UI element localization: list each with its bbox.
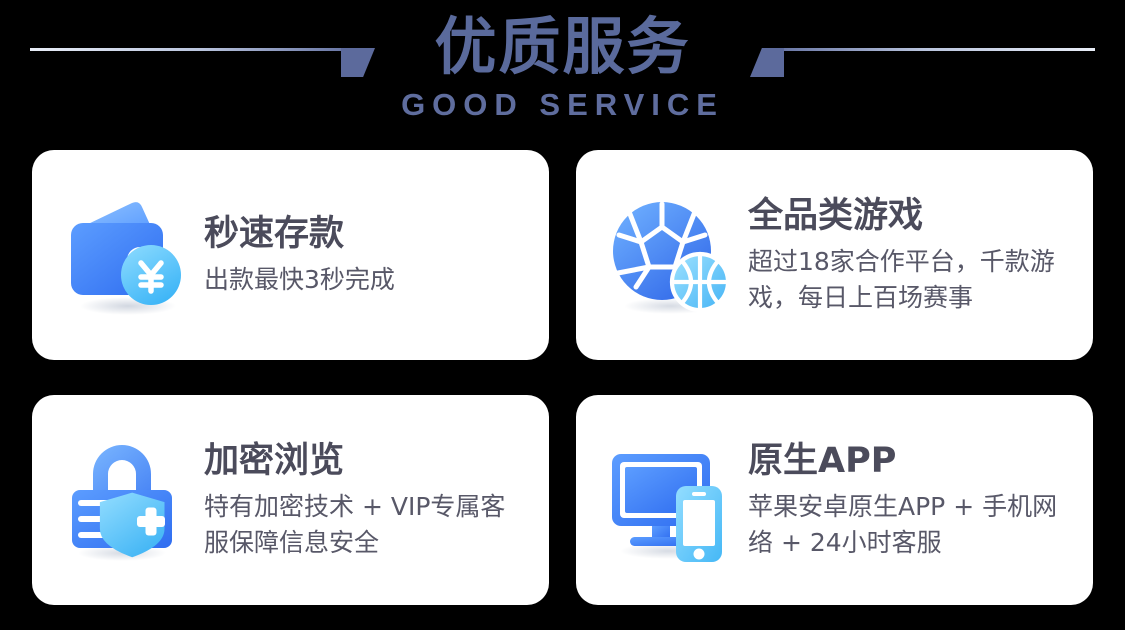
card-text-block: 秒速存款 出款最快3秒完成 [204, 212, 527, 298]
feature-card-encryption[interactable]: 加密浏览 特有加密技术 + VIP专属客服保障信息安全 [32, 395, 549, 605]
card-description: 特有加密技术 + VIP专属客服保障信息安全 [204, 489, 527, 561]
card-description: 出款最快3秒完成 [204, 262, 527, 298]
feature-card-games[interactable]: 全品类游戏 超过18家合作平台，千款游戏，每日上百场赛事 [576, 150, 1093, 360]
page-root: 优质服务 GOOD SERVICE [0, 0, 1125, 630]
page-header: 优质服务 GOOD SERVICE [0, 0, 1125, 140]
card-title: 加密浏览 [204, 439, 527, 483]
card-title: 秒速存款 [204, 212, 527, 256]
card-text-block: 加密浏览 特有加密技术 + VIP专属客服保障信息安全 [204, 439, 527, 561]
lock-shield-icon [60, 434, 192, 566]
card-description: 苹果安卓原生APP + 手机网络 + 24小时客服 [748, 489, 1071, 561]
feature-card-grid: 秒速存款 出款最快3秒完成 [32, 150, 1093, 605]
feature-card-native-app[interactable]: 原生APP 苹果安卓原生APP + 手机网络 + 24小时客服 [576, 395, 1093, 605]
card-text-block: 全品类游戏 超过18家合作平台，千款游戏，每日上百场赛事 [748, 194, 1071, 316]
page-title: 优质服务 [0, 0, 1125, 86]
wallet-icon [60, 189, 192, 321]
sports-balls-icon [604, 189, 736, 321]
feature-card-deposit[interactable]: 秒速存款 出款最快3秒完成 [32, 150, 549, 360]
monitor-phone-icon [604, 434, 736, 566]
card-title: 原生APP [748, 439, 1071, 483]
card-title: 全品类游戏 [748, 194, 1071, 238]
card-description: 超过18家合作平台，千款游戏，每日上百场赛事 [748, 244, 1071, 316]
header-text-block: 优质服务 GOOD SERVICE [0, 0, 1125, 124]
card-text-block: 原生APP 苹果安卓原生APP + 手机网络 + 24小时客服 [748, 439, 1071, 561]
page-subtitle: GOOD SERVICE [0, 86, 1125, 124]
